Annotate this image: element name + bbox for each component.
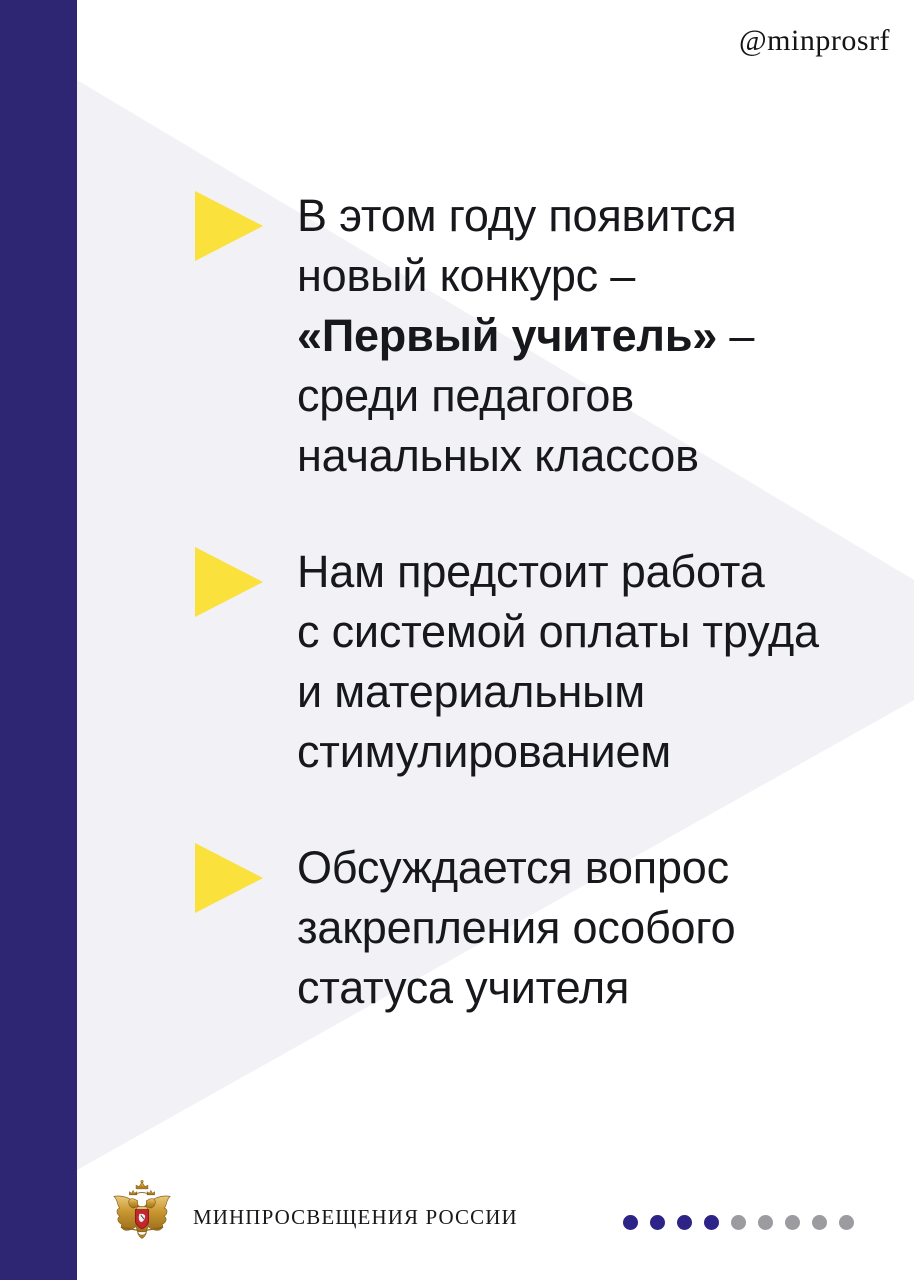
bullet-line: Обсуждается вопрос	[297, 842, 729, 893]
pagination-dot-4[interactable]	[704, 1215, 719, 1230]
yellow-triangle-bullet-icon	[195, 191, 263, 261]
pagination-dots[interactable]	[623, 1215, 854, 1230]
pagination-dot-2[interactable]	[650, 1215, 665, 1230]
bullet-line-emphasis: «Первый учитель»	[297, 310, 717, 361]
list-item: Обсуждается вопрос закрепления особого с…	[195, 838, 895, 1018]
bullet-line: новый конкурс –	[297, 250, 635, 301]
bullet-line: Нам предстоит работа	[297, 546, 765, 597]
bullet-text-1: В этом году появится новый конкурс – «Пе…	[297, 186, 895, 486]
pagination-dot-6[interactable]	[758, 1215, 773, 1230]
pagination-dot-1[interactable]	[623, 1215, 638, 1230]
footer-bar: МИНПРОСВЕЩЕНИЯ РОССИИ	[0, 1160, 914, 1280]
bullet-line: статуса учителя	[297, 962, 629, 1013]
yellow-triangle-bullet-icon	[195, 547, 263, 617]
pagination-dot-5[interactable]	[731, 1215, 746, 1230]
bullet-line: В этом году появится	[297, 190, 737, 241]
slide-canvas: @minprosrf В этом году появится новый ко…	[0, 0, 914, 1280]
pagination-dot-9[interactable]	[839, 1215, 854, 1230]
brand-label: МИНПРОСВЕЩЕНИЯ РОССИИ	[193, 1205, 518, 1230]
pagination-dot-7[interactable]	[785, 1215, 800, 1230]
pagination-dot-3[interactable]	[677, 1215, 692, 1230]
left-accent-stripe	[0, 0, 77, 1280]
list-item: Нам предстоит работа с системой оплаты т…	[195, 542, 895, 782]
bullet-line-suffix: –	[717, 310, 754, 361]
social-handle: @minprosrf	[739, 24, 890, 58]
bullet-line: закрепления особого	[297, 902, 735, 953]
bullet-text-2: Нам предстоит работа с системой оплаты т…	[297, 542, 895, 782]
bullet-line: и материальным	[297, 666, 645, 717]
pagination-dot-8[interactable]	[812, 1215, 827, 1230]
bullet-text-3: Обсуждается вопрос закрепления особого с…	[297, 838, 895, 1018]
yellow-triangle-bullet-icon	[195, 843, 263, 913]
bullet-line: с системой оплаты труда	[297, 606, 819, 657]
brand-lockup: МИНПРОСВЕЩЕНИЯ РОССИИ	[105, 1180, 518, 1254]
list-item: В этом году появится новый конкурс – «Пе…	[195, 186, 895, 486]
bullet-line: стимулированием	[297, 726, 671, 777]
bullet-line: начальных классов	[297, 430, 699, 481]
bullet-line: среди педагогов	[297, 370, 634, 421]
russian-coat-of-arms-emblem	[105, 1180, 179, 1254]
bullet-list: В этом году появится новый конкурс – «Пе…	[195, 186, 895, 1018]
